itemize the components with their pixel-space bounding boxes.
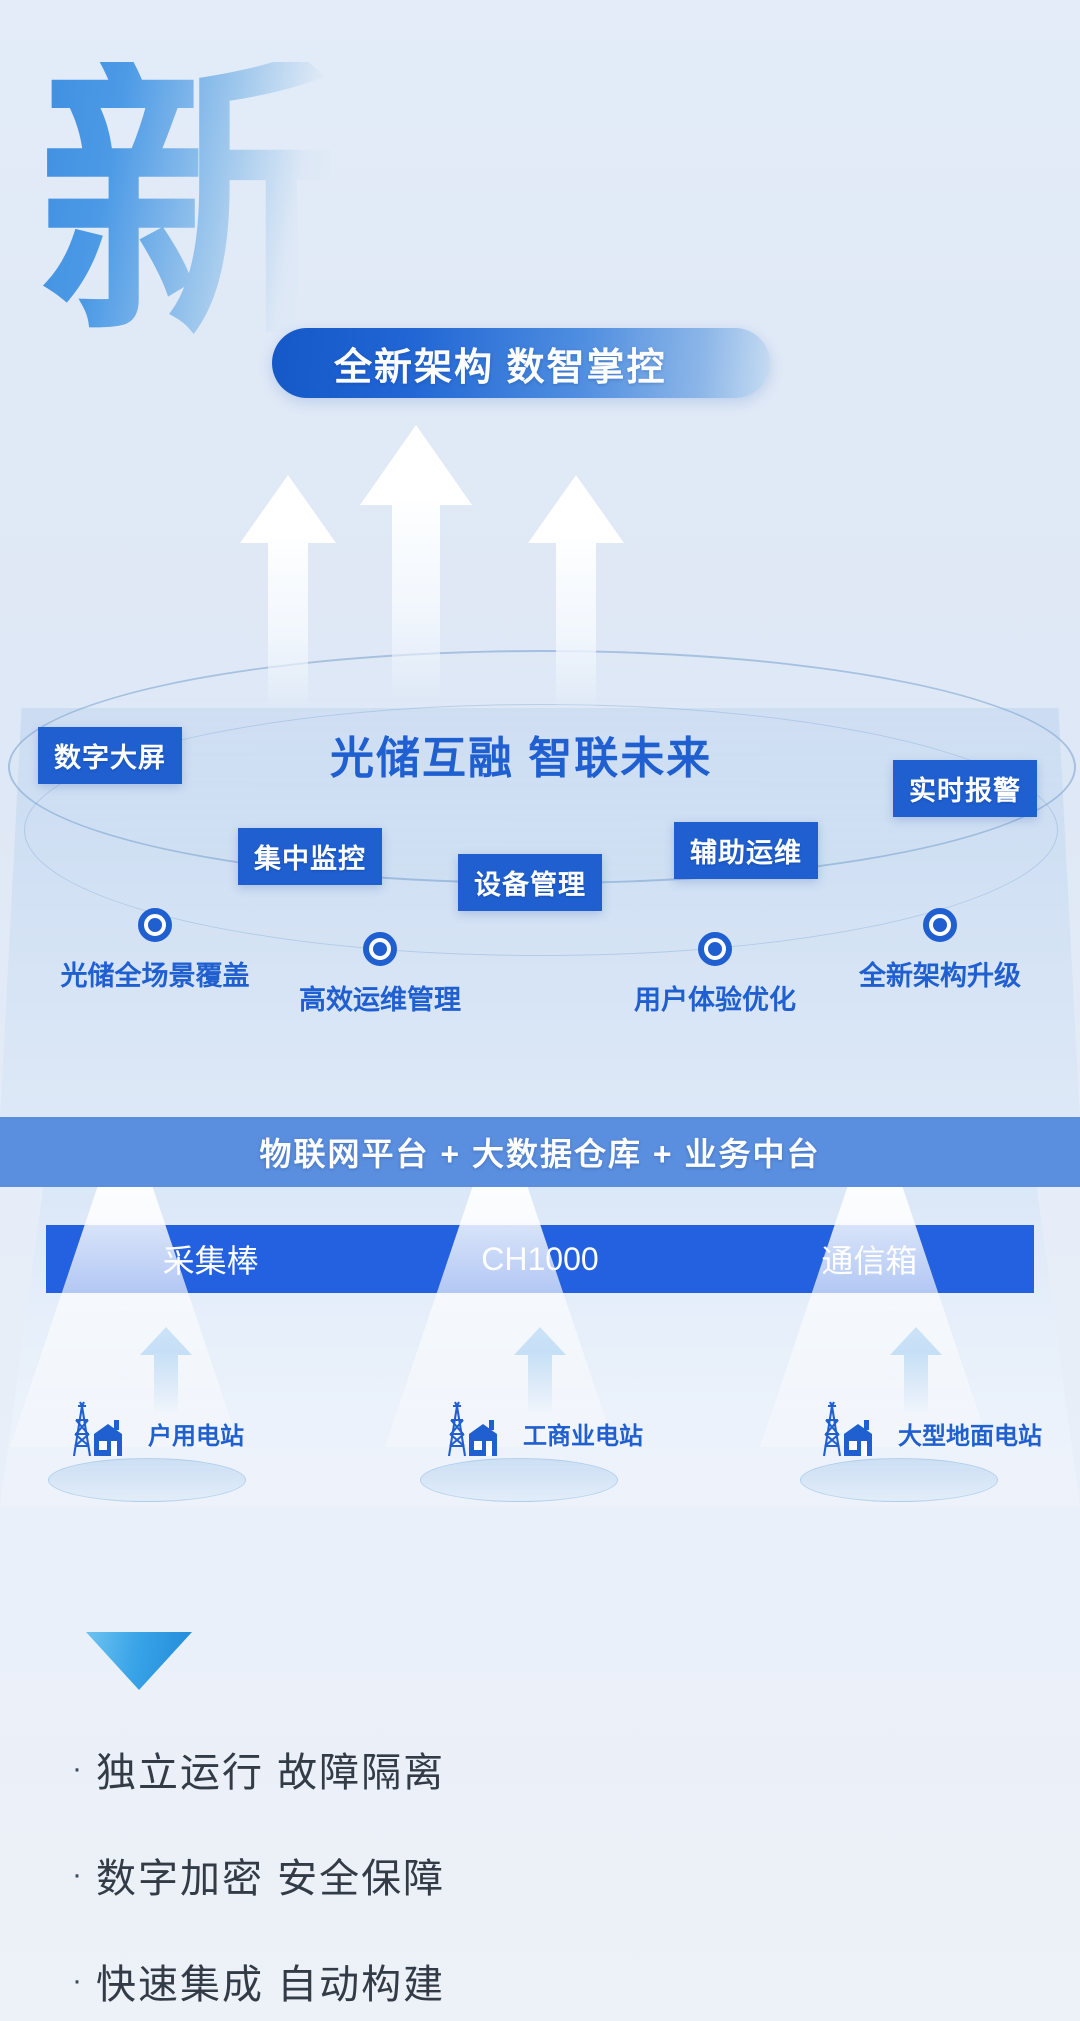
hero-ribbon: 全新架构 数智掌控	[272, 328, 770, 398]
feature-label: 高效运维管理	[255, 978, 505, 1017]
station-utility-scale: 大型地面电站	[820, 1400, 1042, 1467]
tag-assisted-ops[interactable]: 辅助运维	[674, 822, 818, 879]
station-label: 户用电站	[148, 1416, 244, 1451]
list-item: · 数字加密 安全保障	[72, 1846, 445, 1904]
bullet-marker-icon: ·	[72, 1966, 82, 1996]
platform-capability-bar: 物联网平台 + 大数据仓库 + 业务中台	[0, 1117, 1080, 1187]
feature-user-experience: 用户体验优化	[590, 932, 840, 1017]
hero-ribbon-label: 全新架构 数智掌控	[334, 336, 667, 391]
bullet-marker-icon: ·	[72, 1860, 82, 1890]
feature-dot-icon	[138, 908, 172, 942]
power-tower-house-icon	[445, 1400, 509, 1467]
station-residential: 户用电站	[70, 1400, 244, 1467]
down-triangle-icon	[86, 1632, 192, 1690]
tag-digital-screen[interactable]: 数字大屏	[38, 727, 182, 784]
feature-label: 全新架构升级	[815, 954, 1065, 993]
bullet-list: · 独立运行 故障隔离 · 数字加密 安全保障 · 快速集成 自动构建	[72, 1740, 445, 2021]
feature-label: 用户体验优化	[590, 978, 840, 1017]
bullet-text: 快速集成 自动构建	[96, 1952, 445, 2010]
bullet-marker-icon: ·	[72, 1754, 82, 1784]
station-label: 工商业电站	[523, 1416, 643, 1451]
tag-centralized-monitoring[interactable]: 集中监控	[238, 828, 382, 885]
tag-realtime-alarm[interactable]: 实时报警	[893, 760, 1037, 817]
hero-section: 新 全新架构 数智掌控	[0, 0, 1080, 470]
station-label: 大型地面电站	[898, 1416, 1042, 1451]
bottom-section: · 独立运行 故障隔离 · 数字加密 安全保障 · 快速集成 自动构建	[0, 1590, 1080, 2021]
feature-efficient-ops: 高效运维管理	[255, 932, 505, 1017]
power-tower-house-icon	[70, 1400, 134, 1467]
feature-dot-icon	[698, 932, 732, 966]
feature-dot-icon	[923, 908, 957, 942]
feature-label: 光储全场景覆盖	[30, 954, 280, 993]
list-item: · 独立运行 故障隔离	[72, 1740, 445, 1798]
platform-capability-label: 物联网平台 + 大数据仓库 + 业务中台	[260, 1129, 821, 1175]
feature-architecture-upgrade: 全新架构升级	[815, 908, 1065, 993]
bullet-text: 数字加密 安全保障	[96, 1846, 445, 1904]
power-tower-house-icon	[820, 1400, 884, 1467]
feature-full-scenario-coverage: 光储全场景覆盖	[30, 908, 280, 993]
feature-dot-icon	[363, 932, 397, 966]
station-commercial: 工商业电站	[445, 1400, 643, 1467]
stage-slogan: 光储互融 智联未来	[330, 722, 712, 786]
list-item: · 快速集成 自动构建	[72, 1952, 445, 2010]
tag-device-management[interactable]: 设备管理	[458, 854, 602, 911]
bullet-text: 独立运行 故障隔离	[96, 1740, 445, 1798]
hero-big-character: 新	[38, 62, 334, 342]
poster-root: 新 全新架构 数智掌控 光储互融 智联未来 数字大屏 实时报警 集中监控 设备管…	[0, 0, 1080, 2021]
